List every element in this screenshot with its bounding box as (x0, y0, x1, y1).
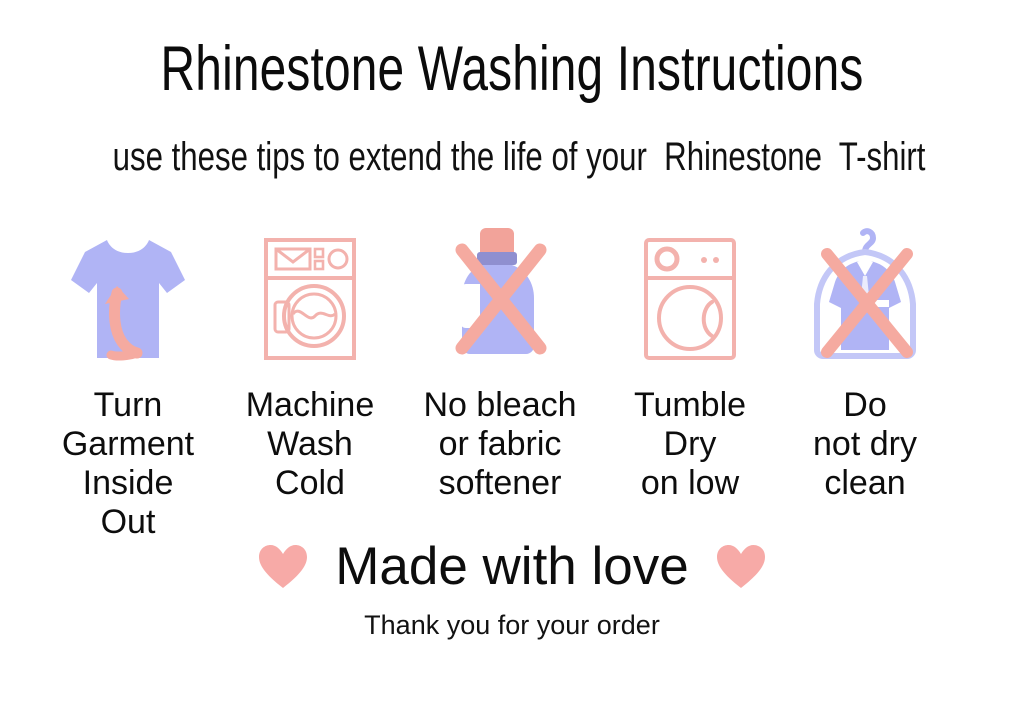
icon-cell-turn-inside-out (38, 212, 218, 362)
made-with-love-text: Made with love (335, 536, 689, 598)
tshirt-inside-out-icon (69, 236, 187, 362)
no-dry-clean-icon (805, 226, 925, 362)
heart-icon-right (715, 543, 767, 591)
label-no-bleach: No bleach or fabric softener (400, 386, 600, 503)
label-turn-inside-out: Turn Garment Inside Out (28, 386, 228, 542)
heart-icon-left (257, 543, 309, 591)
thank-you-text: Thank you for your order (0, 608, 1024, 642)
care-instructions-card: Rhinestone Washing Instructions use thes… (0, 0, 1024, 724)
label-row: Turn Garment Inside Out Machine Wash Col… (0, 386, 1024, 536)
label-no-dry-clean: Do not dry clean (765, 386, 965, 503)
icon-row (0, 212, 1024, 362)
page-title: Rhinestone Washing Instructions (123, 34, 901, 104)
tumble-dryer-icon (642, 236, 738, 362)
page-subtitle: use these tips to extend the life of you… (113, 133, 912, 181)
made-with-love-row: Made with love (0, 536, 1024, 598)
no-bleach-bottle-icon (444, 226, 556, 362)
washing-machine-icon (262, 236, 358, 362)
icon-cell-no-bleach (410, 212, 590, 362)
label-tumble-dry-low: Tumble Dry on low (590, 386, 790, 503)
label-machine-wash-cold: Machine Wash Cold (210, 386, 410, 503)
icon-cell-machine-wash (220, 212, 400, 362)
icon-cell-no-dry-clean (775, 212, 955, 362)
icon-cell-tumble-dry (600, 212, 780, 362)
